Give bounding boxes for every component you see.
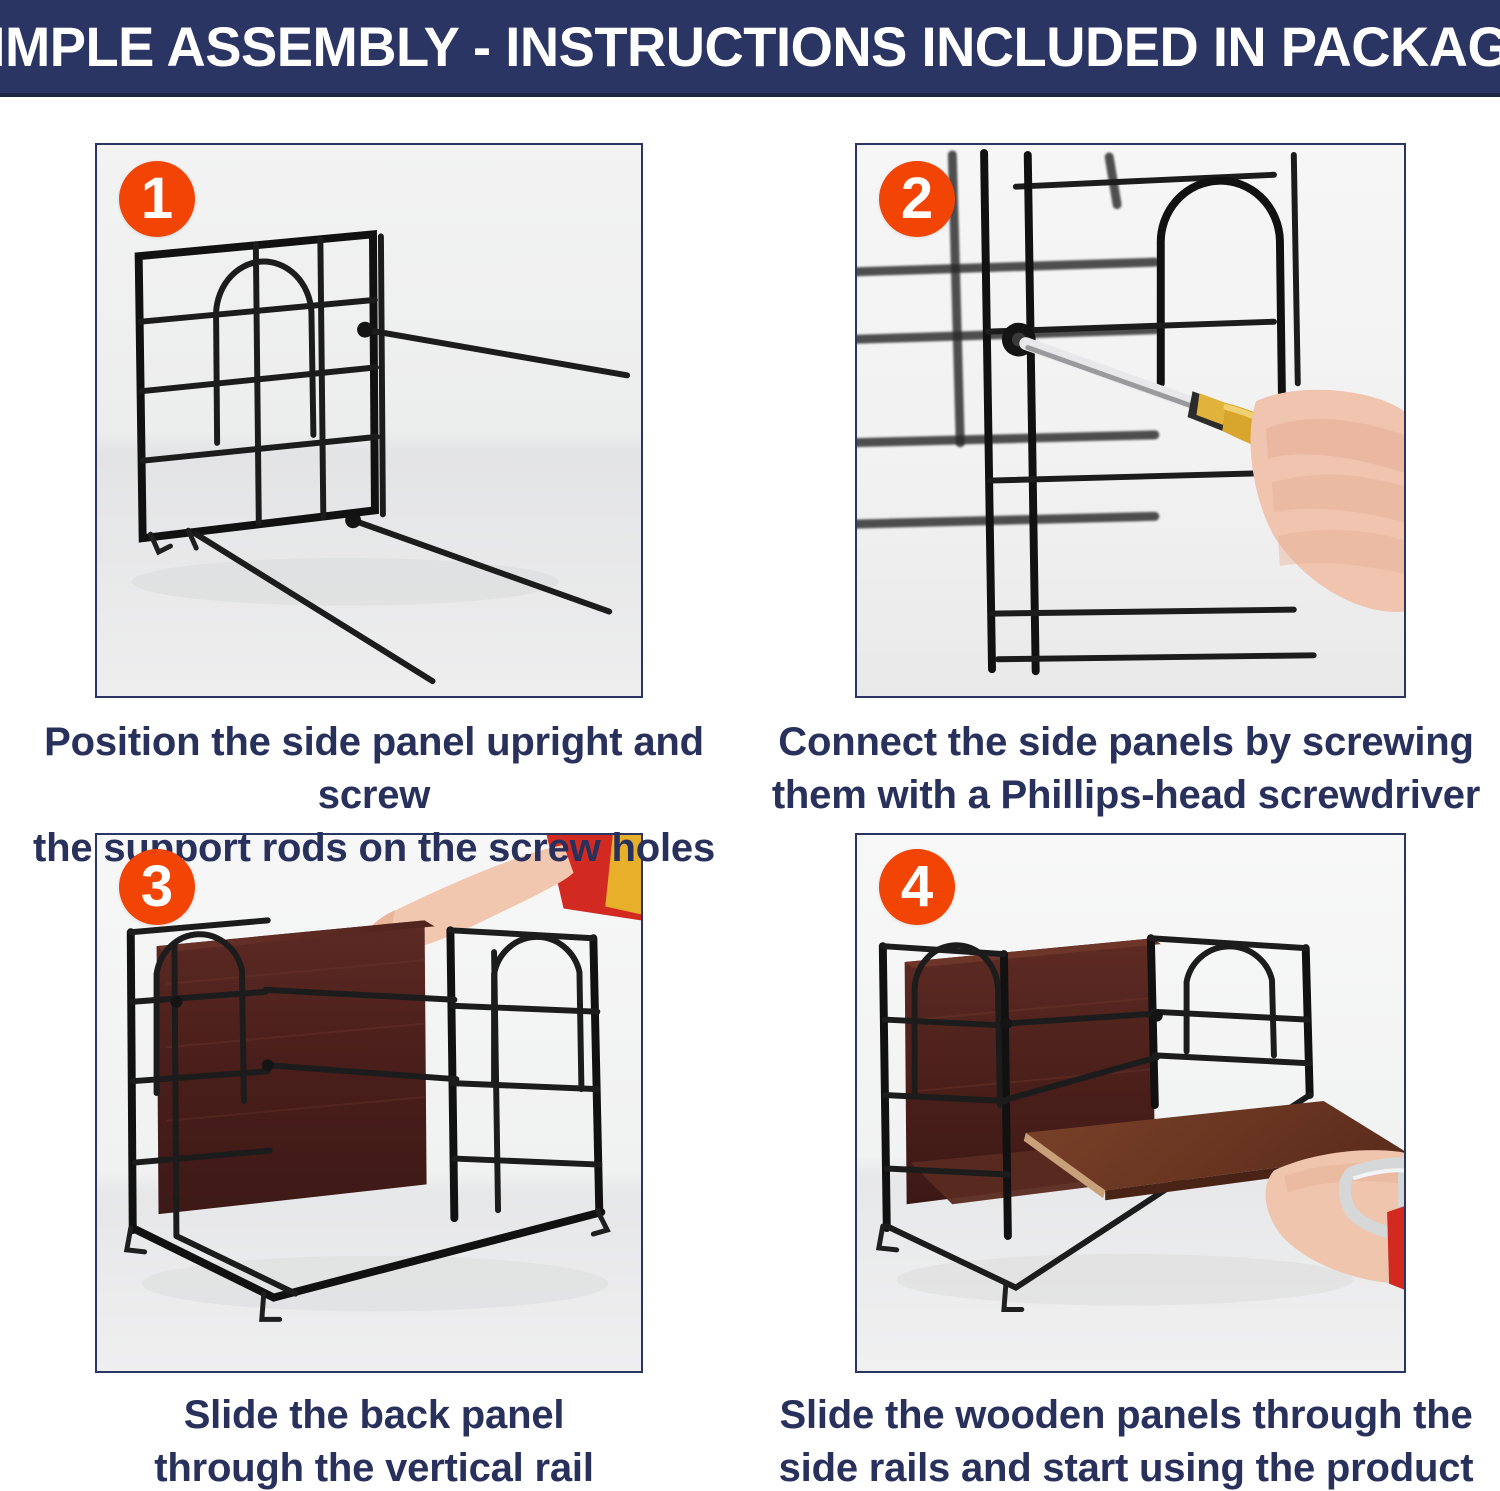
steps-grid: 1 [0, 97, 1500, 1491]
step-caption-4: Slide the wooden panels through the side… [752, 1389, 1500, 1491]
caption-line: Position the side panel upright and scre… [0, 716, 748, 822]
step-card-3: 3 [95, 833, 643, 1373]
caption-line: Slide the wooden panels through the [752, 1389, 1500, 1442]
hand [1251, 390, 1404, 612]
step-caption-3: Slide the back panel through the vertica… [0, 1389, 748, 1491]
step-badge-4: 4 [879, 849, 955, 925]
instruction-sheet: SIMPLE ASSEMBLY - INSTRUCTIONS INCLUDED … [0, 0, 1500, 1491]
step-caption-2: Connect the side panels by screwing them… [752, 716, 1500, 822]
step-photo-1: 1 [95, 143, 643, 698]
step-photo-3: 3 [95, 833, 643, 1373]
caption-line: through the vertical rail [0, 1442, 748, 1491]
step-badge-1: 1 [119, 161, 195, 237]
caption-line: them with a Phillips-head screwdriver [752, 769, 1500, 822]
sleeve-red [1387, 1206, 1404, 1289]
header-banner: SIMPLE ASSEMBLY - INSTRUCTIONS INCLUDED … [0, 0, 1500, 97]
step-badge-3: 3 [119, 849, 195, 925]
page-title: SIMPLE ASSEMBLY - INSTRUCTIONS INCLUDED … [0, 19, 1500, 75]
caption-line: the support rods on the screw holes [0, 822, 748, 875]
step-photo-2: 2 [855, 143, 1406, 698]
step-photo-4: 4 [855, 833, 1406, 1373]
step-caption-1: Position the side panel upright and scre… [0, 716, 748, 874]
caption-line: Slide the back panel [0, 1389, 748, 1442]
step-card-4: 4 [855, 833, 1406, 1373]
step-card-1: 1 [95, 143, 643, 698]
caption-line: side rails and start using the product [752, 1442, 1500, 1491]
caption-line: Connect the side panels by screwing [752, 716, 1500, 769]
step-card-2: 2 [855, 143, 1406, 698]
step-badge-2: 2 [879, 161, 955, 237]
